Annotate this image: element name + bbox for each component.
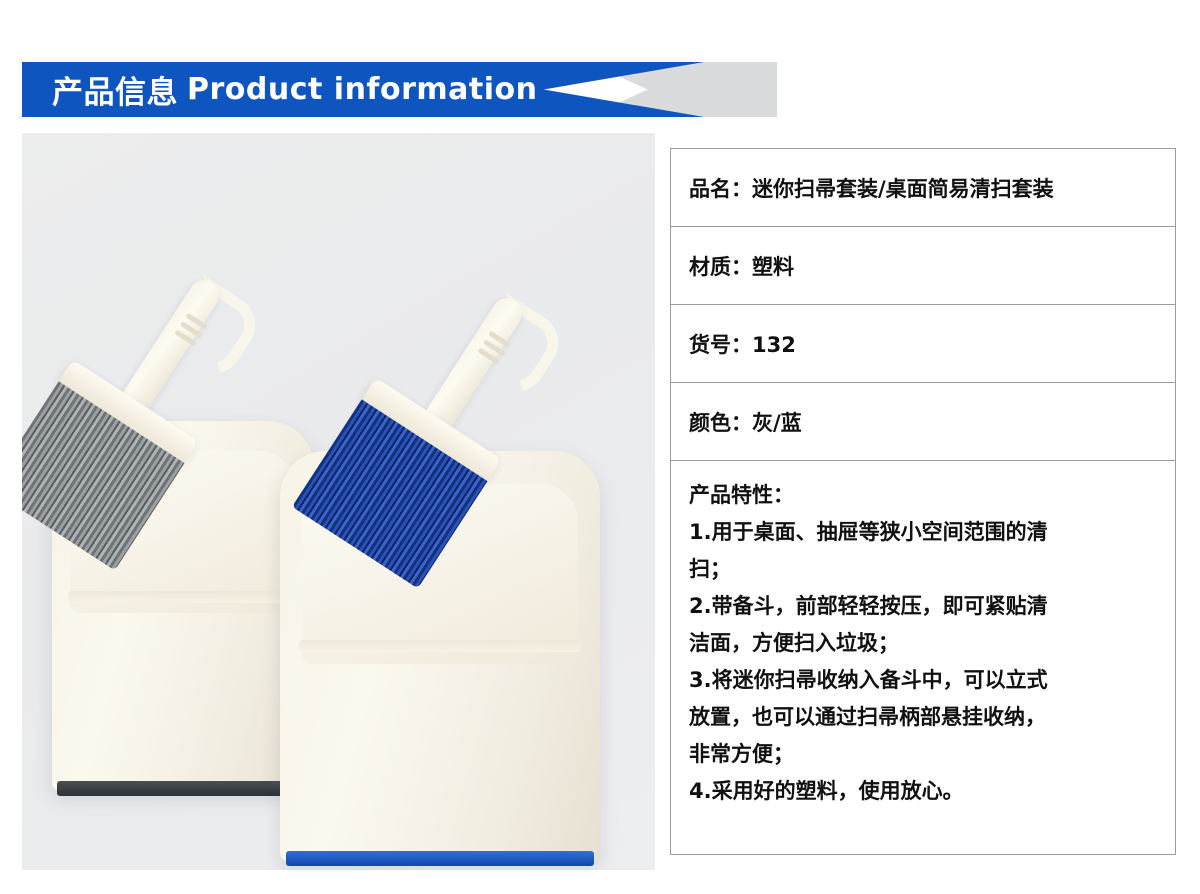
table-row-features: 产品特性： 1.用于桌面、抽屉等狭小空间范围的清 扫； 2.带备斗，前部轻轻按压… xyxy=(671,461,1175,810)
features-heading: 产品特性： xyxy=(689,477,1048,514)
features-block: 产品特性： 1.用于桌面、抽屉等狭小空间范围的清 扫； 2.带备斗，前部轻轻按压… xyxy=(689,475,1048,810)
product-photo-scene xyxy=(22,133,655,870)
item-number-text: 货号：132 xyxy=(689,329,796,359)
blue-dustpan-rubber-lip xyxy=(286,851,593,866)
table-row-color: 颜色：灰/蓝 xyxy=(671,383,1175,461)
banner-title-cn: 产品信息 xyxy=(52,67,178,112)
feature-line: 非常方便； xyxy=(689,736,1048,773)
grey-dustpan-rubber-lip xyxy=(57,781,309,796)
product-name-text: 品名：迷你扫帚套装/桌面简易清扫套装 xyxy=(689,173,1054,203)
grey-dustpan-shelf xyxy=(68,591,299,603)
product-information-page: 产品信息 Product information xyxy=(0,0,1200,894)
section-banner: 产品信息 Product information xyxy=(22,62,757,117)
table-row-material: 材质：塑料 xyxy=(671,227,1175,305)
blue-dustpan-shelf xyxy=(299,640,581,652)
feature-line: 4.采用好的塑料，使用放心。 xyxy=(689,773,1048,810)
banner-title: 产品信息 Product information xyxy=(52,62,538,117)
feature-line: 2.带备斗，前部轻轻按压，即可紧贴清 xyxy=(689,588,1048,625)
table-row-product-name: 品名：迷你扫帚套装/桌面简易清扫套装 xyxy=(671,149,1175,227)
table-row-item-number: 货号：132 xyxy=(671,305,1175,383)
banner-title-en: Product information xyxy=(187,72,538,107)
feature-line: 1.用于桌面、抽屉等狭小空间范围的清 xyxy=(689,514,1048,551)
feature-line: 洁面，方便扫入垃圾； xyxy=(689,625,1048,662)
feature-line: 3.将迷你扫帚收纳入备斗中，可以立式 xyxy=(689,662,1048,699)
material-text: 材质：塑料 xyxy=(689,251,794,281)
specification-table: 品名：迷你扫帚套装/桌面简易清扫套装 材质：塑料 货号：132 颜色：灰/蓝 产… xyxy=(670,148,1176,855)
color-text: 颜色：灰/蓝 xyxy=(689,407,802,437)
product-photo xyxy=(22,133,655,870)
feature-line: 扫； xyxy=(689,551,1048,588)
feature-line: 放置，也可以通过扫帚柄部悬挂收纳， xyxy=(689,699,1048,736)
